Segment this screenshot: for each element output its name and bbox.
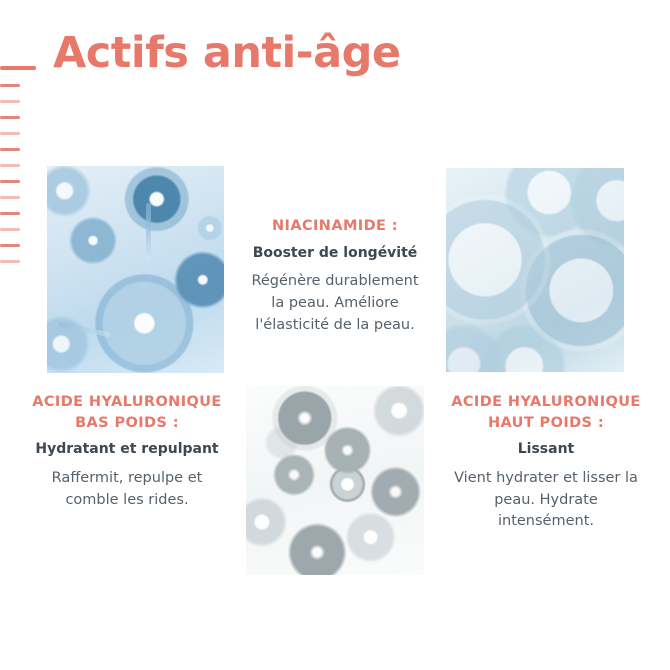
ruler-tick bbox=[0, 132, 20, 135]
page-title: Actifs anti-âge bbox=[53, 28, 401, 78]
ingredient-block-ha-bas-poids: ACIDE HYALURONIQUE BAS POIDS : Hydratant… bbox=[24, 392, 230, 511]
ruler-tick bbox=[0, 228, 20, 231]
decorative-ruler bbox=[0, 66, 46, 276]
ruler-tick bbox=[0, 212, 20, 215]
ingredient-heading-niacinamide: NIACINAMIDE : bbox=[243, 216, 427, 237]
ingredient-subtitle-ha-haut-poids: Lissant bbox=[444, 440, 648, 460]
ingredient-body-niacinamide: Régénère durablement la peau. Améliore l… bbox=[243, 271, 427, 336]
ingredient-subtitle-ha-bas-poids: Hydratant et repulpant bbox=[24, 440, 230, 460]
molecule-link-vertical bbox=[146, 203, 151, 261]
ruler-top-bar bbox=[0, 66, 36, 70]
ruler-tick bbox=[0, 164, 20, 167]
grey-spheres-photo bbox=[246, 386, 424, 575]
transparent-bubbles-photo bbox=[446, 168, 624, 372]
ingredient-subtitle-niacinamide: Booster de longévité bbox=[243, 244, 427, 264]
ingredient-heading-ha-bas-poids: ACIDE HYALURONIQUE BAS POIDS : bbox=[24, 392, 230, 433]
ingredient-body-ha-haut-poids: Vient hydrater et lisser la peau. Hydrat… bbox=[444, 468, 648, 533]
molecule-link-horizontal bbox=[58, 322, 111, 338]
ruler-tick bbox=[0, 148, 20, 151]
ruler-tick bbox=[0, 116, 20, 119]
water-molecules-photo bbox=[47, 166, 224, 373]
ingredient-body-ha-bas-poids: Raffermit, repulpe et comble les rides. bbox=[24, 468, 230, 512]
ruler-tick bbox=[0, 196, 20, 199]
ruler-tick bbox=[0, 180, 20, 183]
ruler-tick bbox=[0, 84, 20, 87]
ingredient-heading-ha-haut-poids: ACIDE HYALURONIQUE HAUT POIDS : bbox=[444, 392, 648, 433]
ingredient-block-niacinamide: NIACINAMIDE : Booster de longévité Régén… bbox=[243, 216, 427, 336]
ingredient-block-ha-haut-poids: ACIDE HYALURONIQUE HAUT POIDS : Lissant … bbox=[444, 392, 648, 533]
ruler-tick bbox=[0, 260, 20, 263]
ruler-tick bbox=[0, 100, 20, 103]
ruler-tick bbox=[0, 244, 20, 247]
